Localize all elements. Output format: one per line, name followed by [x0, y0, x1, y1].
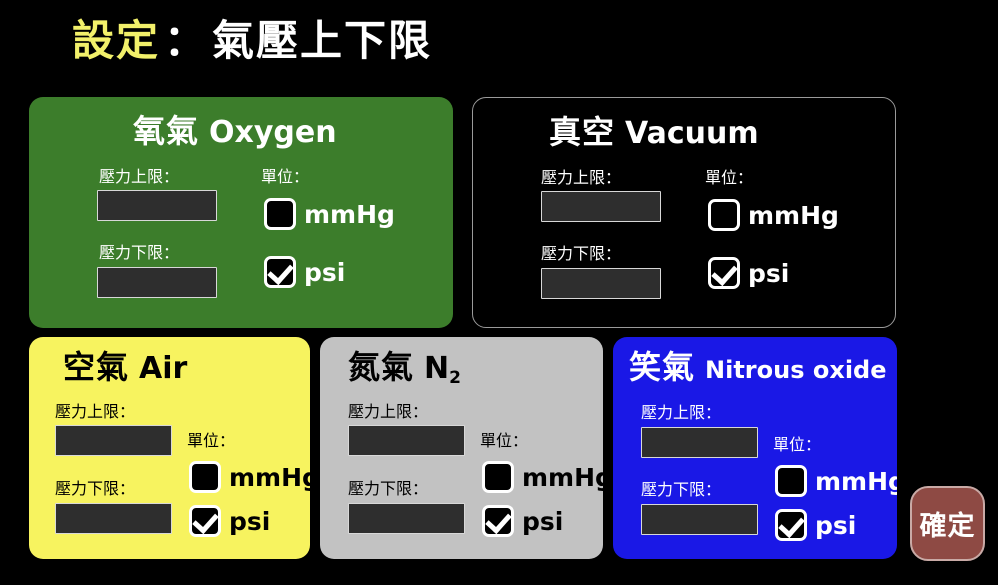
panel-air-name-en: Air [139, 351, 187, 386]
n2-mmhg-label: mmHg [522, 465, 603, 490]
vacuum-unit-label: 單位： [705, 170, 753, 186]
panel-vacuum: 真空Vacuum 壓力上限： 壓力下限： 單位： mmHg psi [472, 97, 896, 328]
vacuum-psi-label: psi [748, 261, 789, 286]
vacuum-lower-limit-label: 壓力下限： [541, 246, 621, 262]
panel-nitrous-oxide: 笑氣Nitrous oxide 壓力上限： 壓力下限： 單位： mmHg psi [613, 337, 897, 559]
air-unit-mmhg-row[interactable]: mmHg [189, 461, 310, 493]
vacuum-lower-limit-input[interactable] [541, 268, 661, 299]
page-title: 設定：氣壓上下限 [72, 20, 432, 62]
vacuum-unit-psi-row[interactable]: psi [708, 257, 789, 289]
oxygen-lower-limit-input[interactable] [97, 267, 217, 298]
n2-unit-label: 單位： [480, 433, 528, 449]
vacuum-mmhg-checkbox[interactable] [708, 199, 740, 231]
panel-vacuum-name-en: Vacuum [625, 116, 759, 151]
panel-air: 空氣Air 壓力上限： 壓力下限： 單位： mmHg psi [29, 337, 310, 559]
oxygen-upper-limit-label: 壓力上限： [99, 169, 179, 185]
oxygen-psi-label: psi [304, 260, 345, 285]
panel-n2: 氮氣N2 壓力上限： 壓力下限： 單位： mmHg psi [320, 337, 603, 559]
nitrous-oxide-upper-limit-label: 壓力上限： [641, 405, 721, 421]
air-mmhg-label: mmHg [229, 465, 310, 490]
nitrous-oxide-psi-checkbox[interactable] [775, 509, 807, 541]
air-psi-checkbox[interactable] [189, 505, 221, 537]
check-icon [485, 507, 512, 534]
panel-n2-name-en: N2 [424, 351, 461, 386]
nitrous-oxide-psi-label: psi [815, 513, 856, 538]
oxygen-unit-label: 單位： [261, 169, 309, 185]
panel-nitrous-oxide-heading: 笑氣Nitrous oxide [629, 351, 887, 383]
n2-upper-limit-input[interactable] [348, 425, 465, 456]
nitrous-oxide-lower-limit-label: 壓力下限： [641, 482, 721, 498]
oxygen-mmhg-label: mmHg [304, 202, 395, 227]
air-upper-limit-input[interactable] [55, 425, 172, 456]
page-title-prefix: 設定 [72, 16, 160, 65]
oxygen-mmhg-checkbox[interactable] [264, 198, 296, 230]
n2-psi-label: psi [522, 509, 563, 534]
panel-oxygen-name-en: Oxygen [209, 115, 337, 150]
panel-n2-heading: 氮氣N2 [348, 351, 461, 384]
oxygen-unit-mmhg-row[interactable]: mmHg [264, 198, 395, 230]
n2-unit-psi-row[interactable]: psi [482, 505, 563, 537]
check-icon [778, 511, 805, 538]
panel-oxygen-heading: 氧氣Oxygen [133, 115, 337, 148]
panel-vacuum-heading: 真空Vacuum [549, 116, 759, 149]
n2-upper-limit-label: 壓力上限： [348, 404, 428, 420]
vacuum-upper-limit-input[interactable] [541, 191, 661, 222]
vacuum-mmhg-label: mmHg [748, 203, 839, 228]
n2-unit-mmhg-row[interactable]: mmHg [482, 461, 603, 493]
check-icon [267, 258, 294, 285]
vacuum-psi-checkbox[interactable] [708, 257, 740, 289]
panel-air-heading: 空氣Air [63, 351, 187, 384]
nitrous-oxide-unit-psi-row[interactable]: psi [775, 509, 856, 541]
nitrous-oxide-mmhg-checkbox[interactable] [775, 465, 807, 497]
panel-oxygen: 氧氣Oxygen 壓力上限： 壓力下限： 單位： mmHg psi [29, 97, 453, 328]
confirm-button[interactable]: 確定 [910, 486, 985, 561]
n2-lower-limit-label: 壓力下限： [348, 481, 428, 497]
vacuum-unit-mmhg-row[interactable]: mmHg [708, 199, 839, 231]
air-psi-label: psi [229, 509, 270, 534]
nitrous-oxide-lower-limit-input[interactable] [641, 504, 758, 535]
air-mmhg-checkbox[interactable] [189, 461, 221, 493]
air-unit-label: 單位： [187, 433, 235, 449]
panel-n2-name-cn: 氮氣 [348, 348, 414, 386]
panel-air-name-cn: 空氣 [63, 348, 129, 386]
n2-lower-limit-input[interactable] [348, 503, 465, 534]
air-unit-psi-row[interactable]: psi [189, 505, 270, 537]
oxygen-lower-limit-label: 壓力下限： [99, 245, 179, 261]
page-title-rest: 氣壓上下限 [212, 16, 432, 65]
vacuum-upper-limit-label: 壓力上限： [541, 170, 621, 186]
page-title-separator: ： [160, 16, 212, 65]
oxygen-upper-limit-input[interactable] [97, 190, 217, 221]
check-icon [711, 259, 738, 286]
air-lower-limit-label: 壓力下限： [55, 481, 135, 497]
nitrous-oxide-unit-label: 單位： [773, 437, 821, 453]
panel-vacuum-name-cn: 真空 [549, 113, 615, 151]
panel-nitrous-oxide-name-cn: 笑氣 [629, 348, 695, 386]
check-icon [192, 507, 219, 534]
air-lower-limit-input[interactable] [55, 503, 172, 534]
nitrous-oxide-upper-limit-input[interactable] [641, 427, 758, 458]
settings-screen: 設定：氣壓上下限 氧氣Oxygen 壓力上限： 壓力下限： 單位： mmHg p… [0, 0, 998, 585]
oxygen-psi-checkbox[interactable] [264, 256, 296, 288]
panel-oxygen-name-cn: 氧氣 [133, 112, 199, 150]
nitrous-oxide-unit-mmhg-row[interactable]: mmHg [775, 465, 897, 497]
panel-nitrous-oxide-name-en: Nitrous oxide [705, 356, 887, 384]
oxygen-unit-psi-row[interactable]: psi [264, 256, 345, 288]
n2-mmhg-checkbox[interactable] [482, 461, 514, 493]
nitrous-oxide-mmhg-label: mmHg [815, 469, 897, 494]
n2-psi-checkbox[interactable] [482, 505, 514, 537]
air-upper-limit-label: 壓力上限： [55, 404, 135, 420]
